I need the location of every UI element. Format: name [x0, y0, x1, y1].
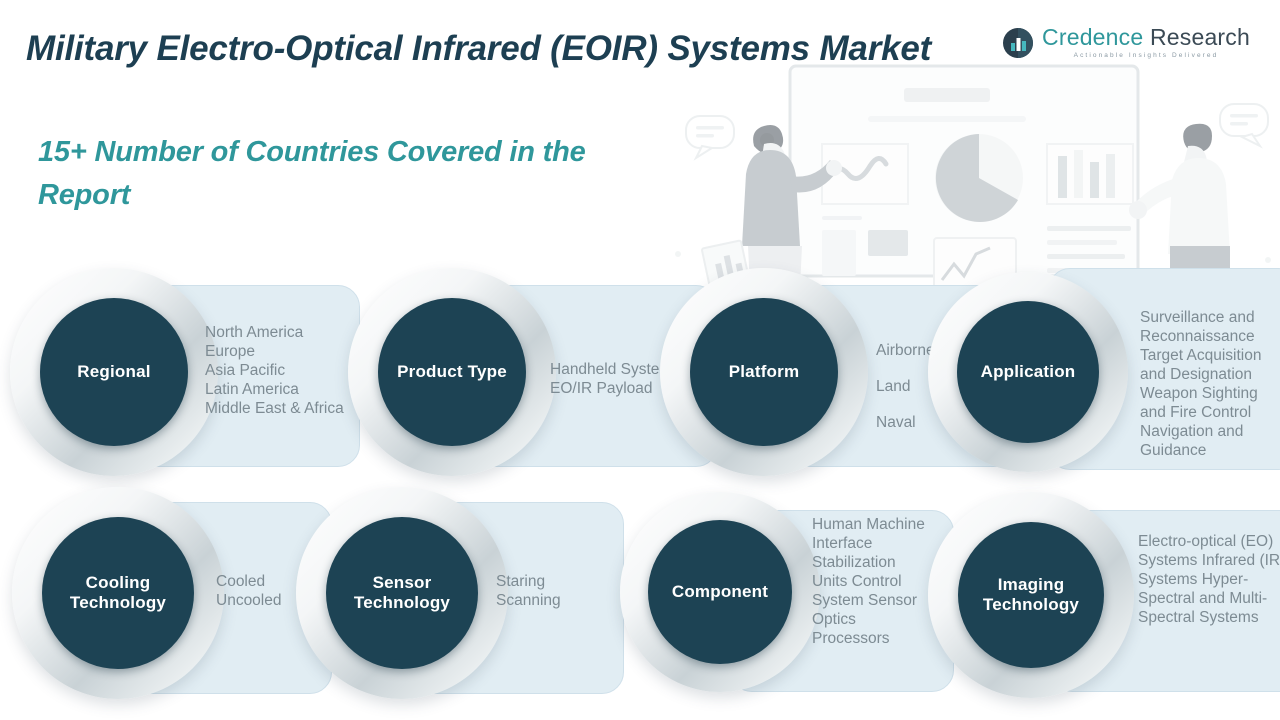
segment-sensor-items: Staring Scanning — [496, 572, 616, 610]
segment-product-type-label[interactable]: Product Type — [378, 298, 526, 446]
segment-application-items: Surveillance and Reconnaissance Target A… — [1140, 308, 1280, 460]
segment-component-items: Human Machine Interface Stabilization Un… — [812, 515, 934, 648]
segment-regional-label[interactable]: Regional — [40, 298, 188, 446]
segment-component-label[interactable]: Component — [648, 520, 792, 664]
segment-platform-label[interactable]: Platform — [690, 298, 838, 446]
brand-logo[interactable]: Credence Research Actionable Insights De… — [1002, 26, 1250, 60]
logo-name-credence: Credence — [1042, 24, 1143, 50]
segment-application-label[interactable]: Application — [957, 301, 1099, 443]
logo-name: Credence Research — [1042, 26, 1250, 49]
infographic-canvas: Military Electro-Optical Infrared (EOIR)… — [0, 0, 1280, 720]
segment-imaging-items: Electro-optical (EO) Systems Infrared (I… — [1138, 532, 1280, 627]
logo-name-research: Research — [1150, 24, 1250, 50]
segment-cooling-label[interactable]: Cooling Technology — [42, 517, 194, 669]
bar-chart-circle-icon — [1002, 27, 1034, 59]
segment-sensor-label[interactable]: Sensor Technology — [326, 517, 478, 669]
page-subtitle: 15+ Number of Countries Covered in the R… — [38, 131, 658, 217]
segment-imaging-label[interactable]: Imaging Technology — [958, 522, 1104, 668]
business-analytics-illustration — [672, 58, 1280, 288]
